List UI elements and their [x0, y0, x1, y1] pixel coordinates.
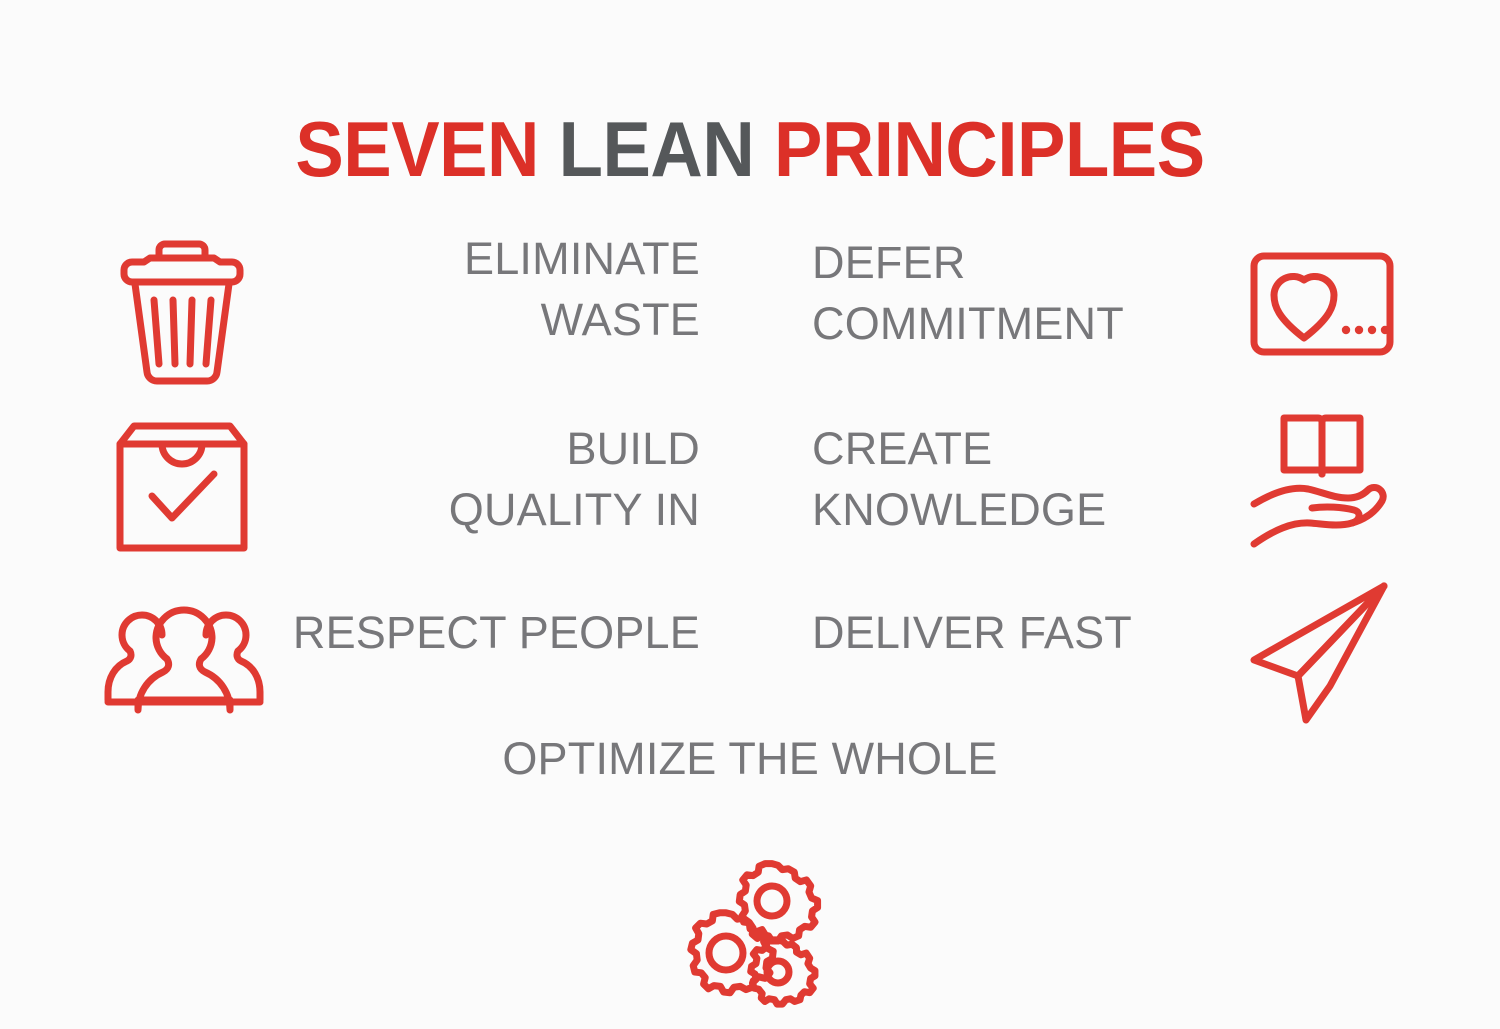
quality-box-check-icon	[112, 418, 252, 556]
gears-icon	[674, 856, 822, 1004]
page-title: SEVEN LEAN PRINCIPLES	[53, 110, 1448, 188]
title-word-seven: SEVEN	[295, 105, 539, 193]
principle-label-eliminate-waste: ELIMINATE WASTE	[464, 228, 700, 350]
title-word-lean: LEAN	[559, 105, 755, 193]
principle-label-build-quality-in: BUILD QUALITY IN	[449, 418, 700, 540]
people-group-icon	[100, 588, 268, 712]
title-word-principles: PRINCIPLES	[774, 105, 1205, 193]
paper-plane-icon	[1244, 578, 1396, 726]
principle-label-defer-commitment: DEFER COMMITMENT	[812, 232, 1124, 354]
principle-label-optimize-the-whole: OPTIMIZE THE WHOLE	[0, 728, 1500, 789]
infographic-canvas: SEVEN LEAN PRINCIPLES ELIMINATE WASTE BU…	[0, 0, 1500, 1029]
trash-icon	[108, 222, 256, 388]
principle-label-create-knowledge: CREATE KNOWLEDGE	[812, 418, 1106, 540]
book-on-hand-icon	[1248, 410, 1396, 552]
principle-label-deliver-fast: DELIVER FAST	[812, 602, 1132, 663]
principle-label-respect-people: RESPECT PEOPLE	[293, 602, 700, 663]
commitment-card-icon	[1248, 250, 1396, 358]
